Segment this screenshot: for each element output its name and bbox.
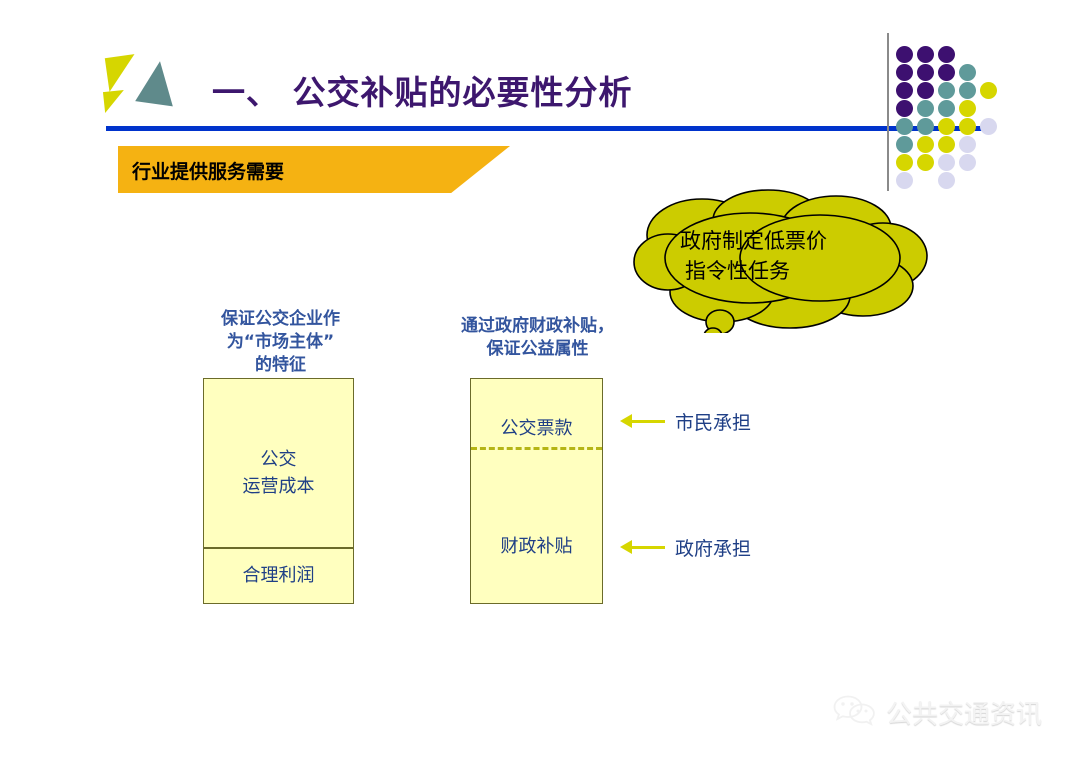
revenue-structure-dashed-divider (471, 447, 602, 450)
matrix-dot (896, 82, 913, 99)
matrix-dot (896, 46, 913, 63)
operating-cost-line-1: 公交 (261, 449, 297, 470)
government-annotation-label: 政府承担 (675, 534, 751, 561)
matrix-dot (917, 100, 934, 117)
matrix-dot (938, 46, 955, 63)
triangle-yellow-top-icon (105, 54, 139, 92)
matrix-dot (959, 64, 976, 81)
page-title: 一、 公交补贴的必要性分析 (212, 66, 633, 114)
cloud-line-2: 指令性任务 (680, 256, 827, 286)
matrix-dot (938, 118, 955, 135)
cloud-line-1: 政府制定低票价 (680, 229, 827, 253)
fare-revenue-label: 公交票款 (470, 415, 603, 442)
left-column-caption: 保证公交企业作 为“市场主体” 的特征 (203, 308, 358, 377)
operating-cost-label: 公交 运营成本 (203, 446, 354, 500)
matrix-dot (917, 82, 934, 99)
operating-cost-line-2: 运营成本 (243, 476, 315, 497)
citizen-annotation-label: 市民承担 (675, 408, 751, 435)
matrix-dot (917, 64, 934, 81)
matrix-dot (917, 136, 934, 153)
matrix-dot (917, 154, 934, 171)
matrix-dot (959, 82, 976, 99)
watermark: 公共交通资讯 (832, 692, 1042, 732)
cost-structure-divider (204, 547, 353, 549)
slide-canvas: 一、 公交补贴的必要性分析 行业提供服务需要 (0, 0, 1080, 764)
right-caption-line-1: 通过政府财政补贴， (461, 316, 614, 336)
matrix-dot (896, 136, 913, 153)
matrix-dot (938, 64, 955, 81)
matrix-dot (896, 100, 913, 117)
matrix-dot (917, 46, 934, 63)
fiscal-subsidy-label: 财政补贴 (470, 533, 603, 560)
reasonable-profit-label: 合理利润 (203, 562, 354, 589)
matrix-dot (938, 154, 955, 171)
revenue-structure-box (470, 378, 603, 604)
matrix-dot (896, 64, 913, 81)
right-column-caption: 通过政府财政补贴， 保证公益属性 (440, 315, 635, 361)
right-caption-line-2: 保证公益属性 (487, 339, 589, 359)
left-caption-line-2: 为“市场主体” (227, 332, 334, 352)
matrix-dot (959, 118, 976, 135)
dot-matrix-decoration (896, 46, 996, 191)
matrix-dot (959, 136, 976, 153)
matrix-dot (896, 154, 913, 171)
matrix-dot (938, 172, 955, 189)
triangle-teal-icon (135, 59, 179, 107)
matrix-dot (959, 154, 976, 171)
left-caption-line-1: 保证公交企业作 (221, 309, 340, 329)
vertical-accent-line (887, 33, 889, 191)
matrix-dot (959, 100, 976, 117)
matrix-dot (938, 136, 955, 153)
section-banner-label: 行业提供服务需要 (132, 157, 284, 184)
arrow-shaft (630, 420, 665, 423)
matrix-dot (896, 172, 913, 189)
matrix-dot (896, 118, 913, 135)
wechat-icon (832, 692, 876, 732)
matrix-dot (938, 100, 955, 117)
cloud-callout-text: 政府制定低票价 指令性任务 (680, 226, 827, 287)
arrow-shaft (630, 546, 665, 549)
left-caption-line-3: 的特征 (255, 355, 306, 375)
matrix-dot (980, 118, 997, 135)
watermark-text: 公共交通资讯 (886, 694, 1042, 731)
matrix-dot (980, 82, 997, 99)
matrix-dot (917, 118, 934, 135)
title-divider-rule (106, 126, 982, 131)
matrix-dot (938, 82, 955, 99)
triangle-yellow-bottom-icon (103, 90, 126, 113)
